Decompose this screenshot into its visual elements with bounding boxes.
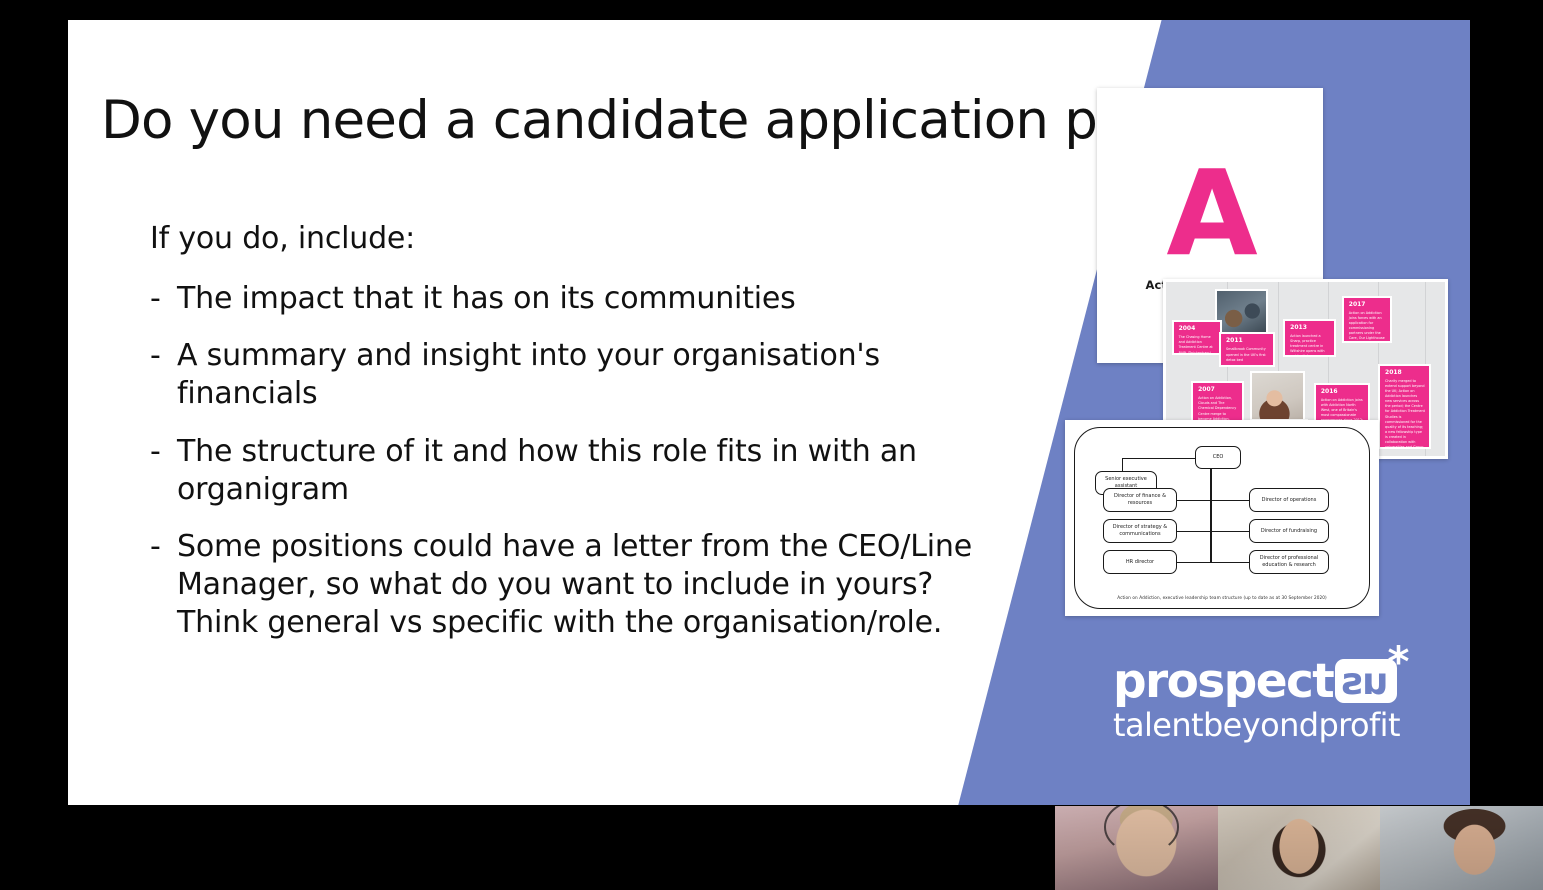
- logo-wordmark-row: prospect us *: [1113, 658, 1413, 705]
- presentation-slide: Do you need a candidate application pack…: [68, 20, 1470, 805]
- bullet-text: A summary and insight into your organisa…: [177, 337, 1010, 413]
- bullet-dash-icon: -: [150, 433, 177, 471]
- logo-us-badge: us *: [1335, 659, 1396, 703]
- timeline-entry: 2017 Action on Addiction joins forces wi…: [1342, 296, 1392, 343]
- timeline-entry-text: Charity merged to extend support beyond …: [1385, 379, 1425, 449]
- logo-us-text: us: [1342, 663, 1388, 700]
- tile-overlay: [1380, 806, 1543, 890]
- slide-body: If you do, include: - The impact that it…: [150, 220, 1010, 662]
- organigram-connector: [1210, 458, 1212, 562]
- organigram-box-director-finance-resources: Director of finance & resources: [1103, 488, 1177, 512]
- timeline-entry-year: 2017: [1349, 302, 1386, 308]
- bullet-text: Some positions could have a letter from …: [177, 528, 1010, 641]
- organigram-box-director-operations: Director of operations: [1249, 488, 1329, 512]
- timeline-entry: 2011 Smallbrook Community opened in the …: [1219, 332, 1275, 367]
- tile-overlay: [1055, 806, 1218, 890]
- intro-line: If you do, include:: [150, 220, 1010, 258]
- timeline-entry-text: The Chasing Home and Addiction Treatment…: [1179, 335, 1216, 355]
- timeline-entry-year: 2011: [1226, 338, 1269, 344]
- organigram-connector: [1177, 562, 1213, 563]
- prospectus-logo: prospect us * talentbeyondprofit: [1113, 658, 1413, 741]
- timeline-entry-year: 2013: [1290, 325, 1330, 331]
- organigram-box-director-fundraising: Director of fundraising: [1249, 519, 1329, 543]
- timeline-entry-year: 2016: [1321, 389, 1364, 395]
- action-on-addiction-logo-icon: A: [1166, 159, 1253, 268]
- organigram-box-ceo: CEO: [1195, 446, 1241, 469]
- organigram-box-hr-director: HR director: [1103, 550, 1177, 574]
- timeline-entry: 2004 The Chasing Home and Addiction Trea…: [1172, 320, 1222, 355]
- tile-overlay: [1218, 806, 1381, 890]
- slide-title: Do you need a candidate application pack…: [101, 93, 1121, 149]
- video-tile-participant-2[interactable]: [1218, 806, 1381, 890]
- logo-tagline: talentbeyondprofit: [1113, 709, 1413, 741]
- timeline-entry-year: 2018: [1385, 370, 1425, 376]
- bullet-dash-icon: -: [150, 280, 177, 318]
- logo-word: prospect: [1113, 658, 1333, 705]
- timeline-entry: 2013 Action launched a Sharp, practice t…: [1283, 319, 1336, 357]
- document-card-organigram: CEO Senior executive assistant Director …: [1065, 420, 1379, 616]
- bullet-dash-icon: -: [150, 528, 177, 566]
- list-item: - The impact that it has on its communit…: [150, 280, 1010, 318]
- timeline-entry: 2018 Charity merged to extend support be…: [1378, 364, 1431, 449]
- video-participant-strip: [1055, 806, 1543, 890]
- list-item: - A summary and insight into your organi…: [150, 337, 1010, 413]
- timeline-entry-text: Action launched a Sharp, practice treatm…: [1290, 334, 1330, 357]
- organigram-connector: [1210, 562, 1249, 563]
- timeline-entry-text: Action on Addiction joins forces with an…: [1349, 311, 1386, 343]
- bullet-dash-icon: -: [150, 337, 177, 375]
- organigram-connector: [1210, 531, 1249, 532]
- asterisk-icon: *: [1388, 641, 1410, 683]
- bullet-text: The impact that it has on its communitie…: [177, 280, 1010, 318]
- video-tile-participant-1[interactable]: [1055, 806, 1218, 890]
- organigram-connector: [1210, 500, 1249, 501]
- organigram-connector: [1177, 531, 1213, 532]
- organigram-box-director-professional-education-research: Director of professional education & res…: [1249, 550, 1329, 574]
- organigram-connector: [1122, 458, 1123, 472]
- timeline-entry-year: 2007: [1198, 387, 1238, 393]
- bullet-text: The structure of it and how this role fi…: [177, 433, 1010, 509]
- screen-recording-stage: Do you need a candidate application pack…: [0, 0, 1543, 890]
- list-item: - The structure of it and how this role …: [150, 433, 1010, 509]
- timeline-entry-text: Smallbrook Community opened in the UK's …: [1226, 347, 1269, 362]
- organigram-box-director-strategy-communications: Director of strategy & communications: [1103, 519, 1177, 543]
- video-tile-participant-3[interactable]: [1380, 806, 1543, 890]
- list-item: - Some positions could have a letter fro…: [150, 528, 1010, 641]
- timeline-entry-year: 2004: [1179, 326, 1216, 332]
- organigram-caption: Action on Addiction, executive leadershi…: [1065, 595, 1379, 600]
- organigram-connector: [1177, 500, 1213, 501]
